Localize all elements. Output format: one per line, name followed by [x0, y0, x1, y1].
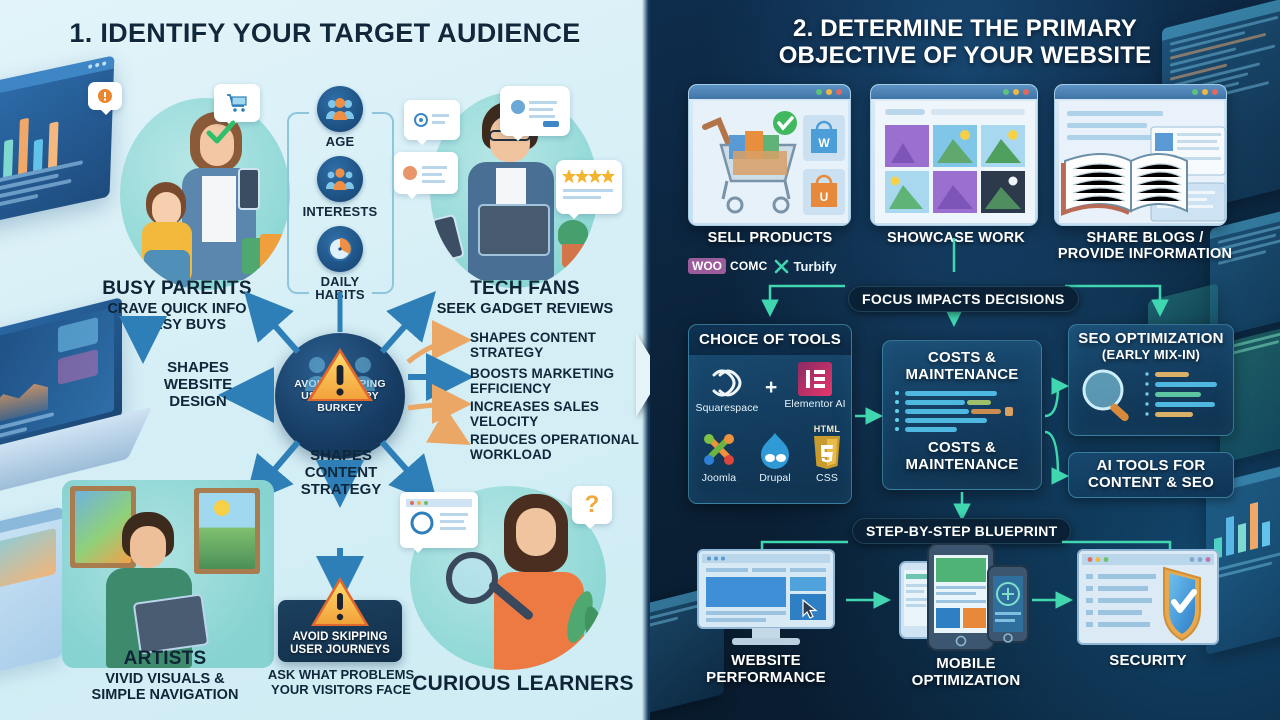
outcome-increases-sales-velocity: INCREASES SALESVELOCITY — [470, 399, 646, 429]
svg-text:W: W — [818, 136, 830, 150]
outcome-boosts-marketing-efficiency: BOOSTS MARKETINGEFFICIENCY — [470, 366, 650, 396]
outcome-shapes-content-strategy: SHAPES CONTENTSTRATEGY — [470, 330, 642, 360]
ribbon-focus-impacts-decisions: FOCUS IMPACTS DECISIONS — [848, 286, 1079, 312]
warning-triangle-icon — [308, 574, 372, 630]
image-gallery-icon — [871, 99, 1038, 225]
persona-illustration-artists — [62, 480, 274, 668]
blueprint-caption-website-performance: WEBSITEPERFORMANCE — [680, 652, 852, 686]
objective-card-sell-products[interactable]: W U — [688, 84, 851, 226]
outcome-shapes-website-design: SHAPESWEBSITEDESIGN — [138, 360, 258, 410]
blueprint-caption-mobile-optimization: MOBILEOPTIMIZATION — [880, 655, 1052, 689]
blueprint-flow-arrows — [650, 588, 1280, 618]
question-bubble-icon: ? — [572, 486, 612, 524]
warning-plate: AVOID SKIPPINGUSER JOURNEYS — [278, 600, 402, 662]
persona-label-artists: ARTISTS VIVID VISUALS &SIMPLE NAVIGATION — [30, 648, 300, 703]
blueprint-caption-security: SECURITY — [1072, 652, 1224, 669]
svg-text:U: U — [820, 190, 829, 204]
warning-plate-text: AVOID SKIPPINGUSER JOURNEYS — [278, 631, 402, 656]
search-result-card-icon — [400, 492, 478, 548]
warning-plate-caption: ASK WHAT PROBLEMSYOUR VISITORS FACE — [266, 668, 416, 697]
tools-connector-arrows — [650, 320, 1280, 520]
right-panel: 2. DETERMINE THE PRIMARYOBJECTIVE OF YOU… — [650, 0, 1280, 720]
infographic-canvas: 1. IDENTIFY YOUR TARGET AUDIENCE — [0, 0, 1280, 720]
persona-label-curious-learners: CURIOUS LEARNERS — [398, 672, 648, 696]
right-panel-title: 2. DETERMINE THE PRIMARYOBJECTIVE OF YOU… — [650, 16, 1280, 70]
outcome-shapes-content-strategy-bottom: SHAPESCONTENTSTRATEGY — [284, 448, 398, 498]
open-book-icon — [1055, 99, 1227, 225]
shopping-cart-icon: W U — [689, 99, 851, 225]
outcome-reduces-operational-workload: REDUCES OPERATIONALWORKLOAD — [470, 432, 650, 462]
left-panel: 1. IDENTIFY YOUR TARGET AUDIENCE — [0, 0, 650, 720]
objective-card-share-blogs[interactable] — [1054, 84, 1227, 226]
objective-card-showcase-work[interactable] — [870, 84, 1038, 226]
